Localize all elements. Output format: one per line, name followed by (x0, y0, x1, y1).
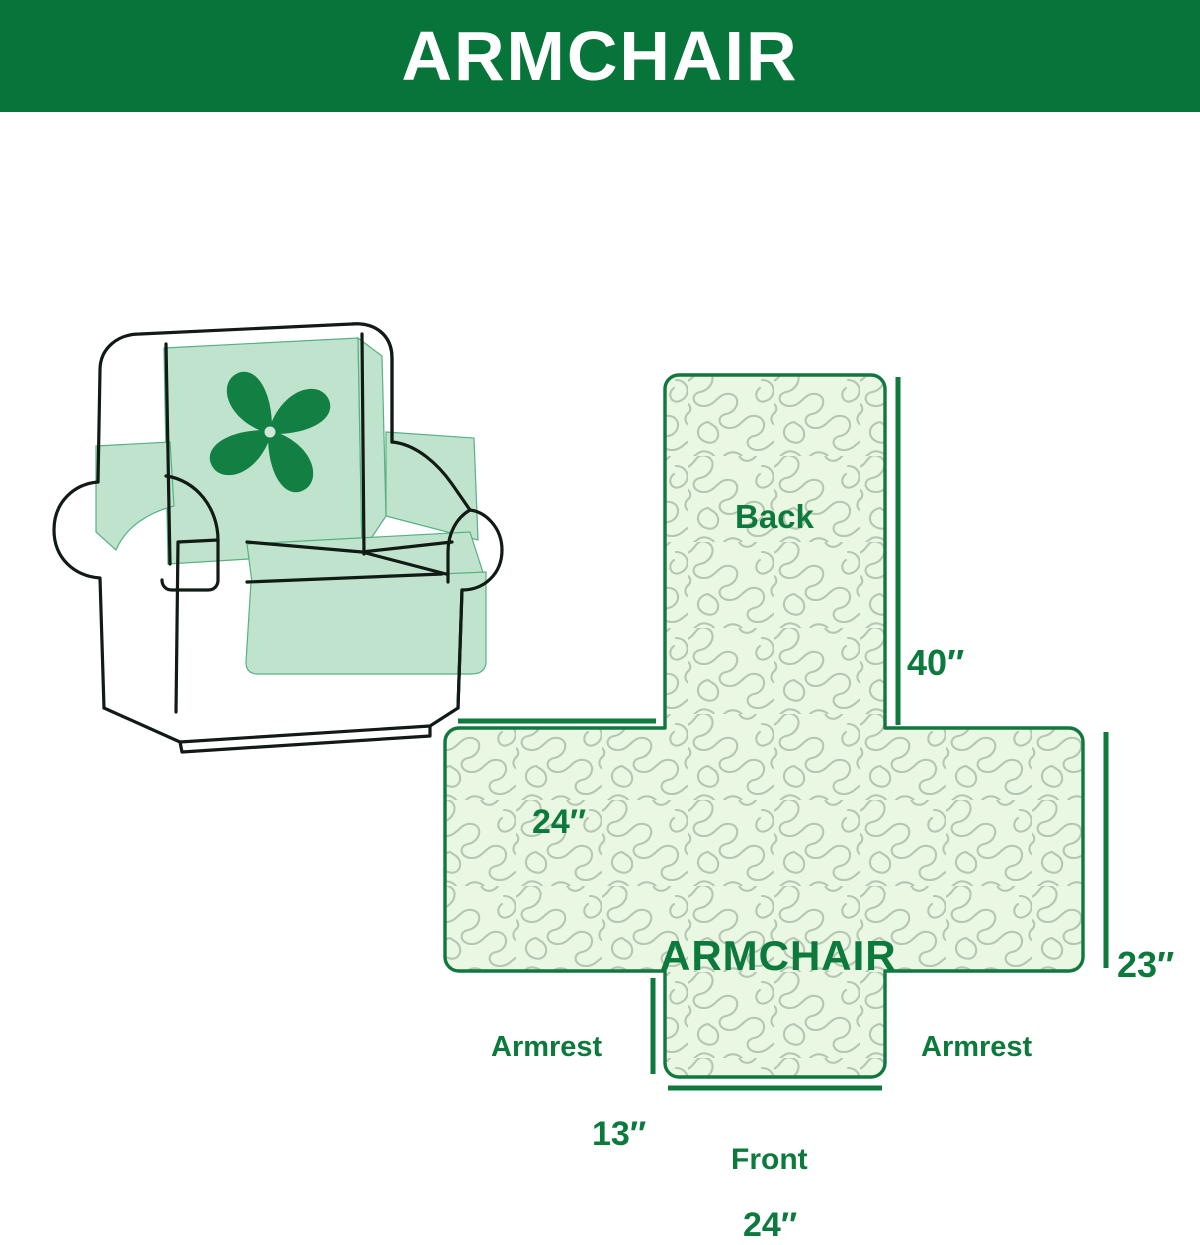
dimension-label-front-height: 13″ (592, 1115, 646, 1154)
chair-back-seam-right (362, 334, 364, 554)
panel-label-armchair: ARMCHAIR (660, 932, 897, 980)
dimension-label-back-width: 24″ (532, 803, 586, 842)
page-title: ARMCHAIR (401, 21, 798, 91)
chair-cover-right-arm (386, 432, 478, 540)
panel-label-armrest-left: Armrest (491, 1031, 602, 1064)
chair-cover-left-arm (96, 442, 174, 550)
diagram-stage: Back ARMCHAIR Armrest Armrest Front 40″ … (0, 112, 1200, 1200)
chair-cover-skirt (246, 572, 486, 674)
armchair-illustration (54, 324, 502, 752)
dimension-label-front-width: 24″ (743, 1206, 797, 1245)
panel-label-front: Front (731, 1143, 808, 1177)
product-dimension-graphic: ARMCHAIR (0, 0, 1200, 1200)
chair-left-arm-inner-2 (176, 540, 218, 712)
dimension-label-armrest-depth: 23″ (1117, 944, 1174, 986)
panel-label-back: Back (735, 498, 814, 536)
header-bar: ARMCHAIR (0, 0, 1200, 112)
dimension-label-back-height: 40″ (907, 642, 964, 684)
panel-label-armrest-right: Armrest (921, 1031, 1032, 1064)
